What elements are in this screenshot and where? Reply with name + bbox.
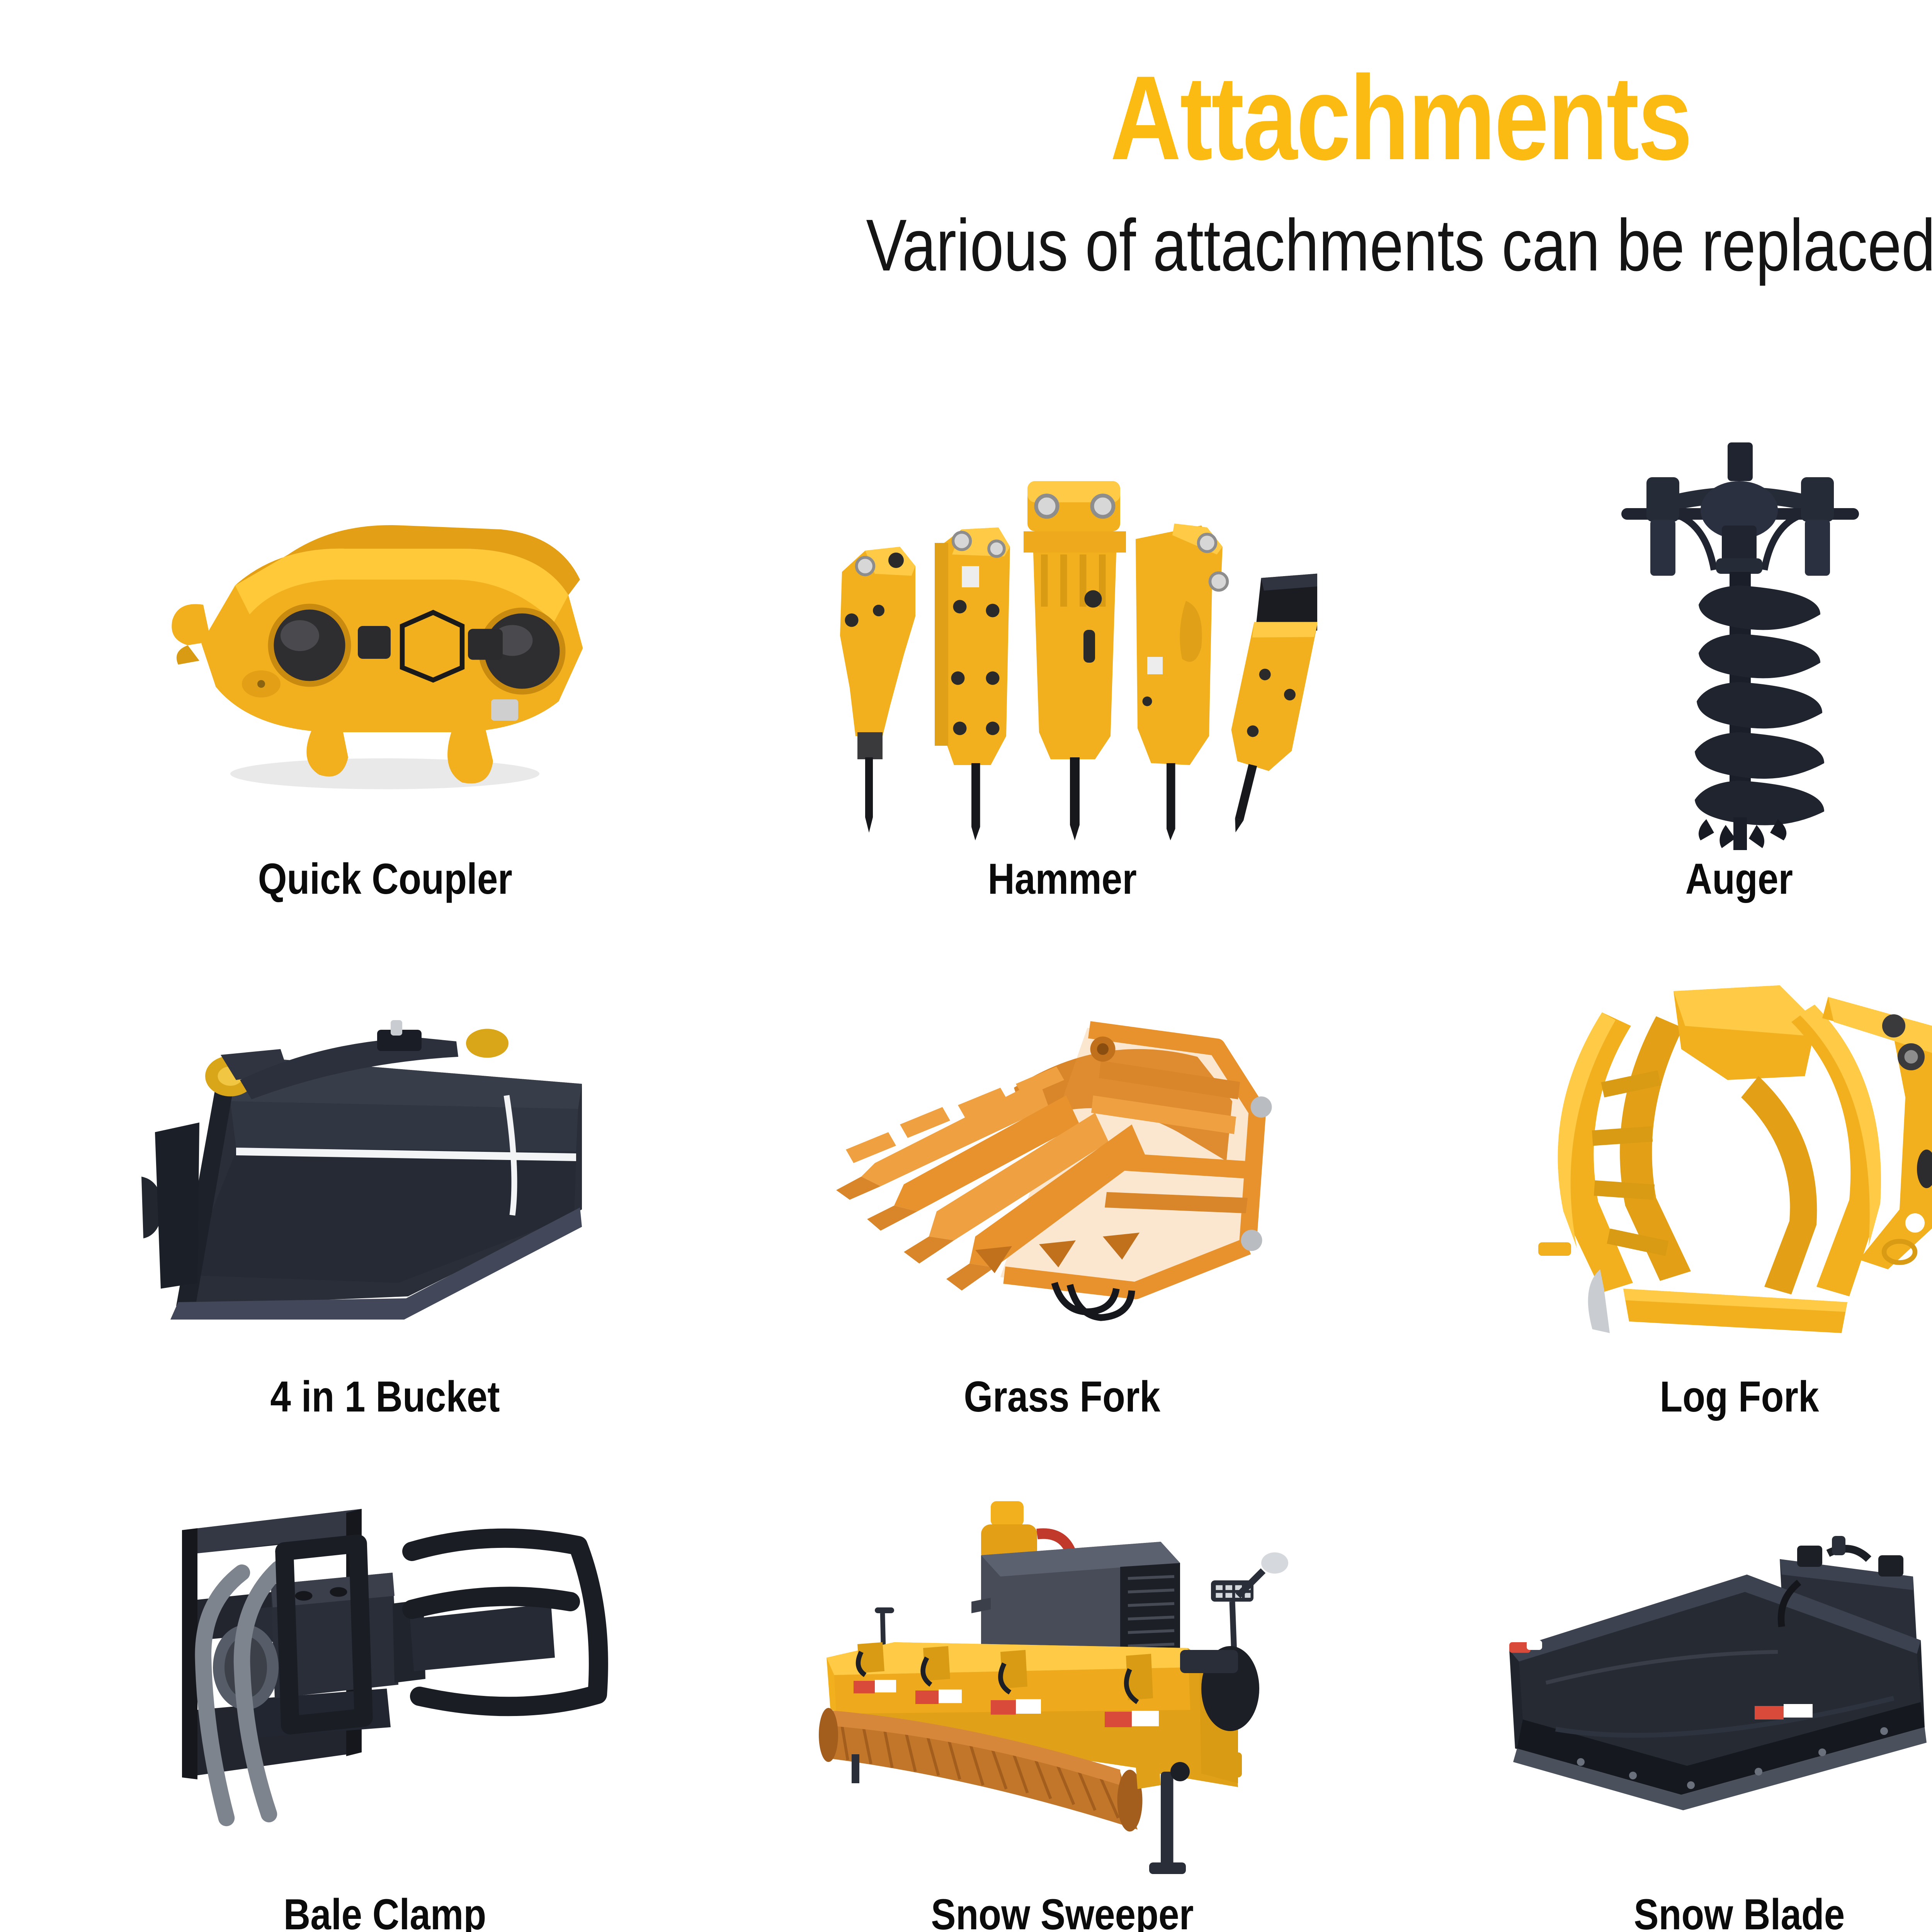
attachment-card-quick-coupler[interactable]: Quick Coupler (46, 433, 724, 951)
attachment-card-log-fork[interactable]: Log Fork (1401, 951, 1932, 1468)
attachments-catalog-page: Attachments Various of attachments can b… (0, 0, 1932, 1932)
attachment-card-four-in-one-bucket[interactable]: 4 in 1 Bucket (46, 951, 724, 1468)
attachment-label: Grass Fork (964, 1372, 1160, 1422)
attachment-card-hammer[interactable]: Hammer (724, 433, 1401, 951)
attachment-card-auger[interactable]: Auger (1401, 433, 1932, 951)
attachment-label: Hammer (988, 854, 1136, 904)
attachment-label: 4 in 1 Bucket (270, 1372, 500, 1422)
bale-clamp-icon (46, 1468, 724, 1889)
auger-icon (1401, 433, 1932, 854)
snow-blade-icon (1401, 1468, 1932, 1889)
attachment-label: Quick Coupler (258, 854, 512, 904)
attachment-card-grass-fork[interactable]: Grass Fork (724, 951, 1401, 1468)
log-fork-icon (1401, 951, 1932, 1372)
attachments-grid: Quick Coupler (46, 433, 1932, 1932)
grass-fork-icon (724, 951, 1401, 1372)
four-in-one-bucket-icon (46, 951, 724, 1372)
attachment-card-snow-sweeper[interactable]: Snow Sweeper (724, 1468, 1401, 1932)
quick-coupler-icon (46, 433, 724, 854)
page-title: Attachments (252, 58, 1932, 178)
attachment-card-snow-blade[interactable]: Snow Blade (1401, 1468, 1932, 1932)
attachment-label: Snow Blade (1634, 1889, 1845, 1932)
snow-sweeper-icon (724, 1468, 1401, 1889)
attachment-label: Log Fork (1660, 1372, 1819, 1422)
page-header: Attachments Various of attachments can b… (0, 0, 1932, 282)
attachment-card-bale-clamp[interactable]: Bale Clamp (46, 1468, 724, 1932)
hammer-icon (724, 433, 1401, 854)
attachment-label: Snow Sweeper (931, 1889, 1194, 1932)
attachment-label: Bale Clamp (284, 1889, 486, 1932)
attachment-label: Auger (1685, 854, 1793, 904)
page-subtitle: Various of attachments can be replaced (238, 209, 1932, 282)
